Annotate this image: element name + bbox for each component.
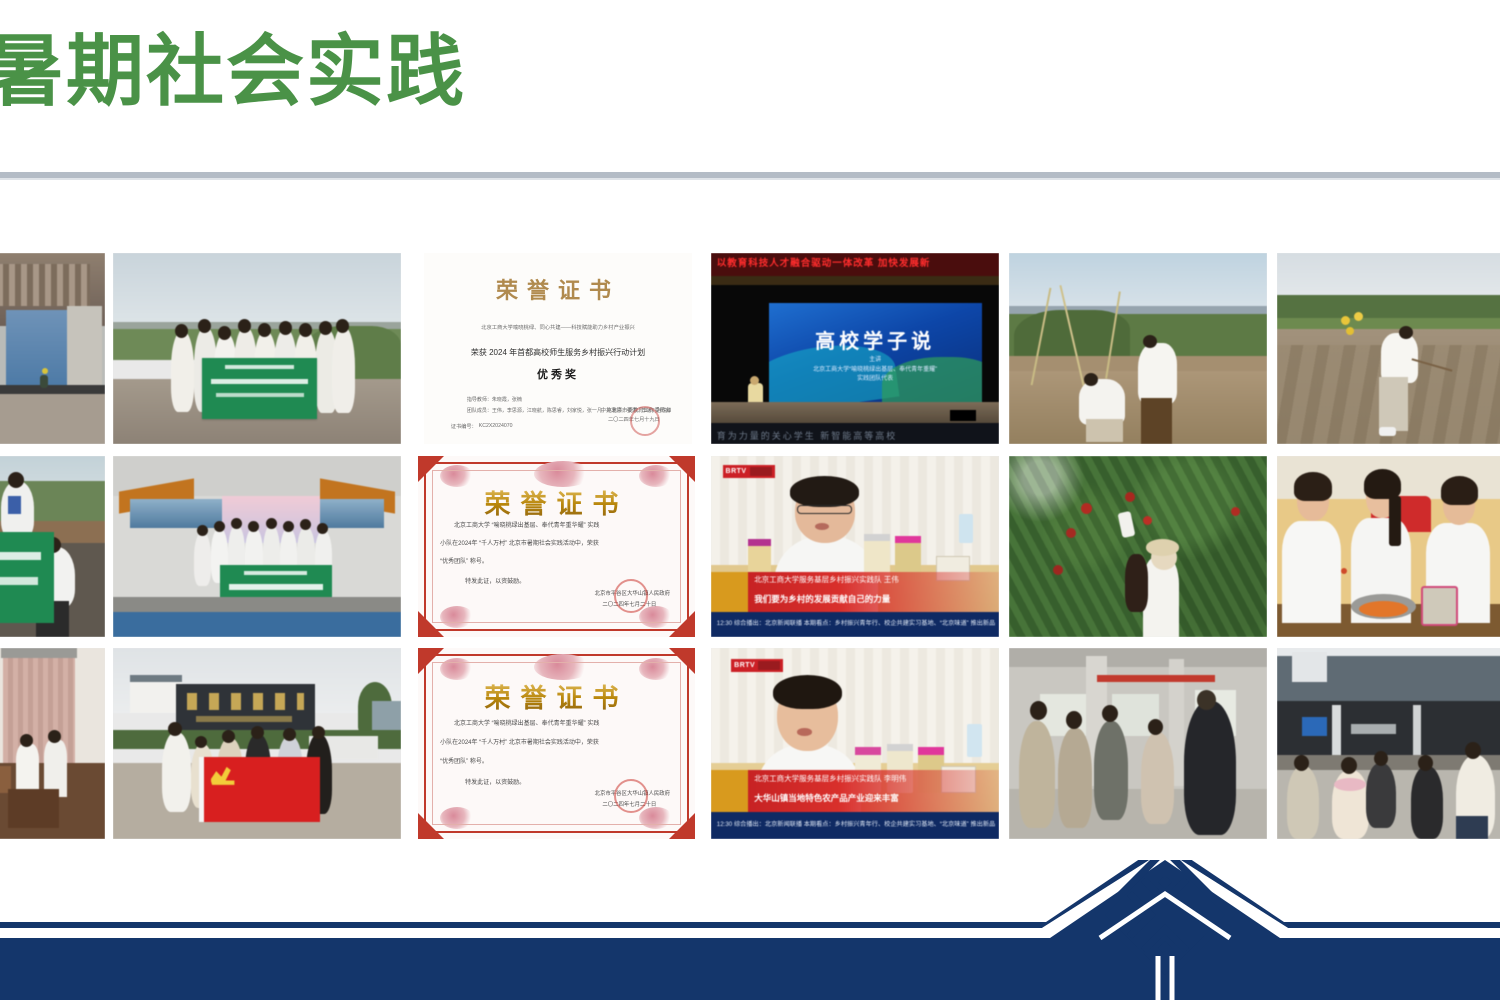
footer-ornament <box>0 860 1500 1000</box>
corner-ornament-bl <box>418 611 444 637</box>
photo-building <box>0 253 105 444</box>
stage-bottom-text: 育为力量的关心学生 新智能高等高校 <box>717 429 898 442</box>
ticker-text: 12:30 综合播出：北京新闻联播 本期看点：乡村振兴青年行、校企共建实习基地、… <box>717 618 995 627</box>
certificate-date: 二〇二四年七月二十日 <box>602 800 656 808</box>
certificate-line-1: 北京工商大学 “喻晓桃绿出基层、奉代青年重华耀” 实践 <box>454 520 599 529</box>
floral-ornament-tr <box>639 465 673 487</box>
slide-canvas: 暑期社会实践 <box>0 0 1500 1000</box>
gallery-item-r1c2[interactable] <box>113 253 401 444</box>
green-banner <box>202 358 317 419</box>
photo-flag-green <box>0 456 105 637</box>
footer-accent-line <box>0 860 1500 928</box>
floral-ornament-bl <box>440 807 474 829</box>
photo-group-banner-green <box>113 253 401 444</box>
certificate-date: 二〇二四年七月二十日 <box>602 600 656 608</box>
winery-sign <box>176 684 314 734</box>
stage-top-banner: 以教育科技人才融合驱动一体改革 加快发展新 <box>717 255 931 269</box>
certificate-seal <box>614 779 648 813</box>
footer-gap <box>0 860 1500 932</box>
certificate-line-4: 特发此证，以资鼓励。 <box>465 576 525 585</box>
party-flag <box>202 757 320 822</box>
tv-interview-b: BRTV 北京工商大学服务基层乡村振兴实践队 李明伟 大华山镇当地特色农产品产业… <box>711 648 999 839</box>
channel-logo: BRTV <box>723 465 775 478</box>
photo-farm-b <box>1277 253 1500 444</box>
lower-third: 北京工商大学服务基层乡村振兴实践队 王伟 我们要为乡村的发展贡献自己的力量 <box>711 572 999 612</box>
hammer-sickle-emblem <box>211 765 237 792</box>
gallery-item-r1c4[interactable]: 以教育科技人才融合驱动一体改革 加快发展新 高校学子说 主讲 北京工商大学“喻晓… <box>711 253 999 444</box>
floral-ornament-tl <box>440 465 474 487</box>
floral-ornament-top <box>534 461 592 487</box>
gallery-item-r3c5[interactable] <box>1009 648 1267 839</box>
gallery-item-r2c1[interactable] <box>0 456 105 637</box>
floral-ornament-top <box>534 654 592 680</box>
stage-screen-title: 高校学子说 <box>769 325 982 354</box>
certificate-serial-value: KC2X2024070 <box>479 423 513 430</box>
stage-screen-sub-2: 北京工商大学“喻晓桃绿出基层、奉代青年重耀” <box>769 364 982 373</box>
corner-ornament-br <box>669 813 695 839</box>
gallery-item-r2c4[interactable]: BRTV 北京工商大学服务基层乡村振兴实践队 王伟 我们要为乡村的发展贡献自己的… <box>711 456 999 637</box>
certificate-seal <box>614 579 648 613</box>
floral-ornament-tl <box>440 658 474 680</box>
certificate-line-1: 北京工商大学 “喻晓桃绿出基层、奉代青年重华耀” 实践 <box>454 718 599 727</box>
corner-ornament-bl <box>418 813 444 839</box>
channel-logo-text: BRTV <box>726 468 747 475</box>
stage-screen-sub-3: 实践团队代表 <box>769 373 982 382</box>
certificate-line-3: “优秀团队” 称号。 <box>440 756 488 765</box>
certificate-line-3: “优秀团队” 称号。 <box>440 556 488 565</box>
gallery-item-r1c3[interactable]: 荣誉证书 北京工商大学喻晓桃绿、同心共建——科技赋能助力乡村产业振兴 荣获 20… <box>424 253 692 444</box>
floral-ornament-tr <box>639 658 673 680</box>
gallery-item-r3c1[interactable] <box>0 648 105 839</box>
certificate-line-4: 特发此证，以资鼓励。 <box>465 777 525 786</box>
photo-party-flag <box>113 648 401 839</box>
photo-factory-in <box>1009 648 1267 839</box>
corner-ornament-tl <box>418 456 444 482</box>
floral-ornament-bl <box>440 606 474 628</box>
page-title: 暑期社会实践 <box>0 30 466 114</box>
gallery-item-r1c5[interactable] <box>1009 253 1267 444</box>
certificate-advisors: 指导教师：朱晓霞，张楠 <box>467 396 522 403</box>
certificate-issuer: 北京市平谷区大华山镇人民政府 <box>595 589 670 597</box>
news-ticker: 12:30 综合播出：北京新闻联播 本期看点：乡村振兴青年行、校企共建实习基地、… <box>711 612 999 637</box>
photo-stage: 以教育科技人才融合驱动一体改革 加快发展新 高校学子说 主讲 北京工商大学“喻晓… <box>711 253 999 444</box>
photo-meeting <box>0 648 105 839</box>
headline-1: 北京工商大学服务基层乡村振兴实践队 李明伟 <box>754 773 906 784</box>
gallery-item-r3c3[interactable]: 荣誉证书 北京工商大学 “喻晓桃绿出基层、奉代青年重华耀” 实践 小队在2024… <box>418 648 695 839</box>
channel-logo-text: BRTV <box>734 662 755 669</box>
gallery-item-r2c3[interactable]: 荣誉证书 北京工商大学 “喻晓桃绿出基层、奉代青年重华耀” 实践 小队在2024… <box>418 456 695 637</box>
certificate-seal <box>630 406 660 436</box>
green-flag <box>0 532 54 623</box>
gallery-item-r2c6[interactable] <box>1277 456 1500 637</box>
stage-screen: 高校学子说 主讲 北京工商大学“喻晓桃绿出基层、奉代青年重耀” 实践团队代表 <box>769 303 982 402</box>
news-ticker: 12:30 综合播出：北京新闻联播 本期看点：乡村振兴青年行、校企共建实习基地、… <box>711 812 999 839</box>
lower-third: 北京工商大学服务基层乡村振兴实践队 李明伟 大华山镇当地特色农产品产业迎来丰富 <box>711 770 999 812</box>
headline-2: 大华山镇当地特色农产品产业迎来丰富 <box>754 792 899 804</box>
gallery-item-r1c1[interactable] <box>0 253 105 444</box>
corner-ornament-br <box>669 611 695 637</box>
certificate-line-2: 小队在2024年 “千人万村” 北京市暑期社会实践活动中，荣获 <box>440 538 599 547</box>
photo-group-indoor <box>113 456 401 637</box>
gallery-item-r2c2[interactable] <box>113 456 401 637</box>
headline-2: 我们要为乡村的发展贡献自己的力量 <box>754 593 890 605</box>
floral-ornament-br <box>639 606 673 628</box>
tv-interview-a: BRTV 北京工商大学服务基层乡村振兴实践队 王伟 我们要为乡村的发展贡献自己的… <box>711 456 999 637</box>
photo-cooking <box>1277 456 1500 637</box>
title-divider-shadow <box>0 178 1500 180</box>
photo-farm-a <box>1009 253 1267 444</box>
gallery-item-r3c6[interactable] <box>1277 648 1500 839</box>
certificate-award-name: 优秀奖 <box>537 366 579 382</box>
gallery-item-r2c5[interactable] <box>1009 456 1267 637</box>
certificate-title: 荣誉证书 <box>496 273 620 305</box>
photo-factory-out <box>1277 648 1500 839</box>
corner-ornament-tr <box>669 456 695 482</box>
stage-screen-sub-1: 主讲 <box>769 354 982 363</box>
certificate-framed: 荣誉证书 北京工商大学 “喻晓桃绿出基层、奉代青年重华耀” 实践 小队在2024… <box>418 648 695 839</box>
gallery-item-r3c4[interactable]: BRTV 北京工商大学服务基层乡村振兴实践队 李明伟 大华山镇当地特色农产品产业… <box>711 648 999 839</box>
corner-ornament-tr <box>669 648 695 674</box>
gallery-item-r3c2[interactable] <box>113 648 401 839</box>
certificate-line-2: 小队在2024年 “千人万村” 北京市暑期社会实践活动中，荣获 <box>440 737 599 746</box>
certificate-award-line: 荣获 2024 年首都高校师生服务乡村振兴行动计划 <box>471 347 645 358</box>
footer-svg <box>0 860 1500 1000</box>
floral-ornament-br <box>639 807 673 829</box>
certificate-issuer: 北京市平谷区大华山镇人民政府 <box>595 789 670 797</box>
certificate-title: 荣誉证书 <box>418 484 695 521</box>
gallery-item-r1c6[interactable] <box>1277 253 1500 444</box>
certificate-framed: 荣誉证书 北京工商大学 “喻晓桃绿出基层、奉代青年重华耀” 实践 小队在2024… <box>418 456 695 637</box>
certificate-title: 荣誉证书 <box>418 678 695 715</box>
certificate-subtitle: 北京工商大学喻晓桃绿、同心共建——科技赋能助力乡村产业振兴 <box>440 323 676 331</box>
channel-logo: BRTV <box>731 659 783 672</box>
photo-orchard <box>1009 456 1267 637</box>
certificate-serial-label: 证书编号： <box>451 423 477 430</box>
certificate-plain: 荣誉证书 北京工商大学喻晓桃绿、同心共建——科技赋能助力乡村产业振兴 荣获 20… <box>424 253 692 444</box>
headline-1: 北京工商大学服务基层乡村振兴实践队 王伟 <box>754 574 899 585</box>
ticker-text: 12:30 综合播出：北京新闻联播 本期看点：乡村振兴青年行、校企共建实习基地、… <box>717 819 995 828</box>
corner-ornament-tl <box>418 648 444 674</box>
